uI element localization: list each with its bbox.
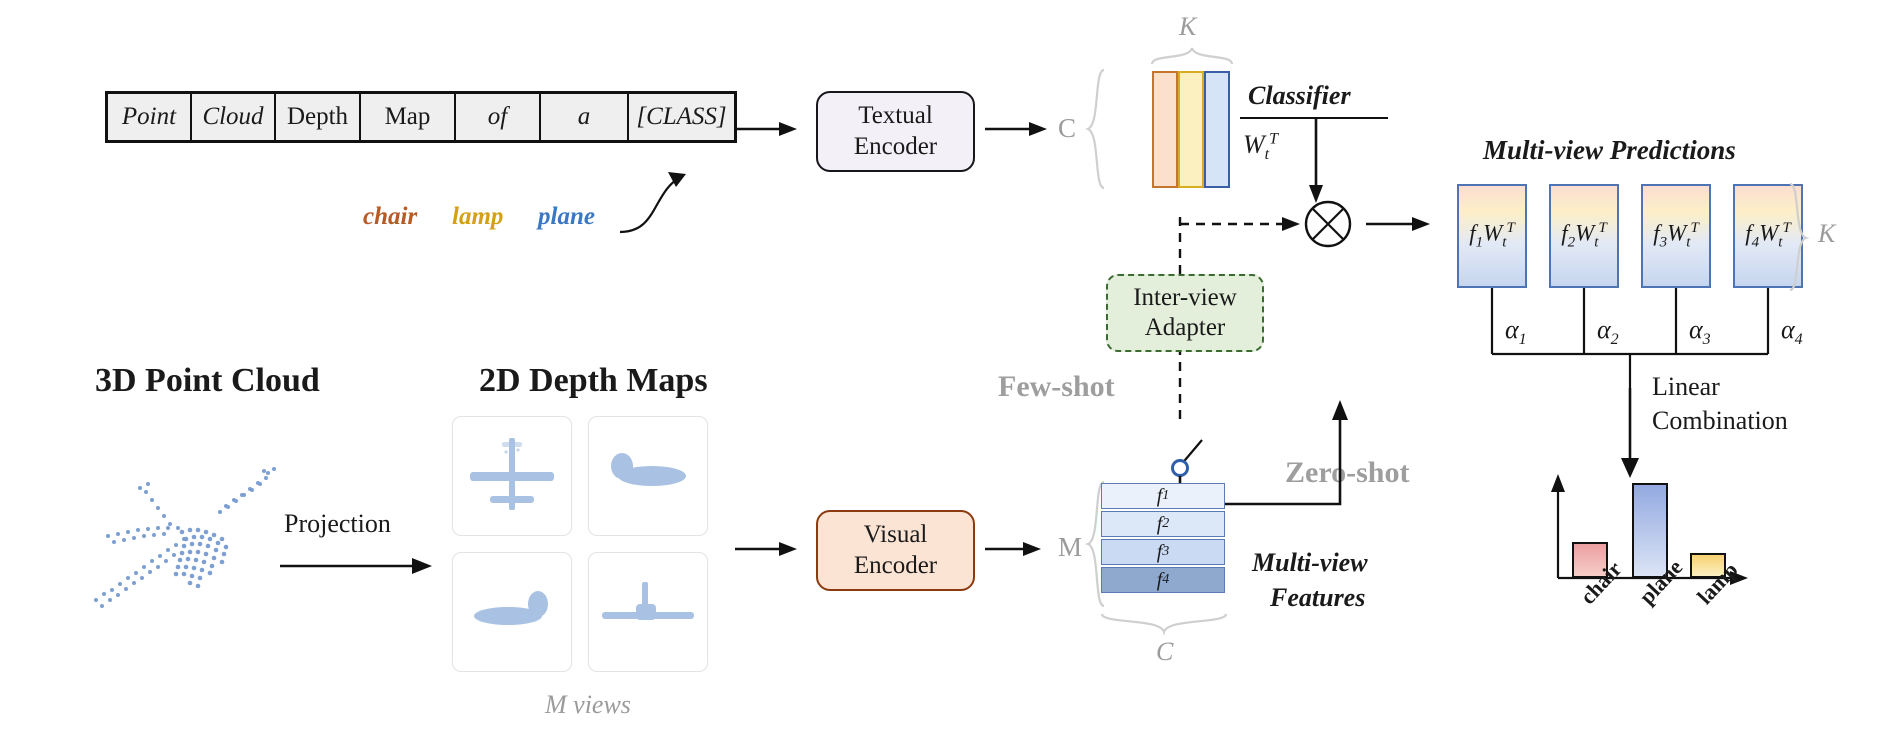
point-cloud-heading: 3D Point Cloud xyxy=(95,362,320,400)
feature-row-1-sub: 1 xyxy=(1162,488,1169,504)
alpha-4: α4 xyxy=(1781,315,1803,349)
alpha-2: α2 xyxy=(1597,315,1619,349)
prompt-cell-a: a xyxy=(541,94,629,140)
predictions-row: f1WtT f2WtT f3WtT f4WtT xyxy=(1457,184,1803,288)
depth-map-front-view-icon xyxy=(592,556,704,668)
classifier-weight-W: W xyxy=(1243,130,1265,159)
prediction-box-2-w: W xyxy=(1575,221,1594,246)
classifier-column-plane xyxy=(1204,71,1230,188)
prediction-box-4-sub: 4 xyxy=(1752,235,1760,251)
classifier-weight-symbol: WtT xyxy=(1243,130,1278,164)
depth-map-tile-3[interactable] xyxy=(452,552,572,672)
prompt-cell-map: Map xyxy=(361,94,456,140)
prediction-box-1-w: W xyxy=(1483,221,1502,246)
arrow-textual-encoder-to-classifier xyxy=(985,118,1055,140)
matrix-multiply-icon xyxy=(1300,196,1360,256)
linear-combination-line2: Combination xyxy=(1652,406,1788,436)
prediction-box-1-wsup: T xyxy=(1506,220,1514,236)
prediction-box-2-wsup: T xyxy=(1598,220,1606,236)
linear-combination-line1: Linear xyxy=(1652,372,1720,402)
depth-map-oblique-view-icon xyxy=(592,420,704,532)
prompt-cell-cloud: Cloud xyxy=(192,94,276,140)
prediction-box-4-w: W xyxy=(1759,221,1778,246)
predictions-brace xyxy=(1788,182,1810,294)
depth-map-grid xyxy=(452,416,706,670)
visual-encoder-line1: Visual xyxy=(864,520,928,551)
features-dim-cols: C xyxy=(1156,637,1173,667)
class-word-plane: plane xyxy=(538,203,595,231)
alpha-3: α3 xyxy=(1689,315,1711,349)
prediction-box-3-wsup: T xyxy=(1690,220,1698,236)
arrow-depthmaps-to-visual-encoder xyxy=(735,538,805,560)
prediction-box-2[interactable]: f2WtT xyxy=(1549,184,1619,288)
arrow-prompt-to-textual-encoder xyxy=(735,118,805,140)
class-word-lamp: lamp xyxy=(452,203,503,231)
prediction-box-1-sub: 1 xyxy=(1476,235,1484,251)
multi-view-features-stack: f1 f2 f3 f4 xyxy=(1101,483,1225,595)
depth-maps-caption: M views xyxy=(545,690,631,720)
features-caption-line2: Features xyxy=(1270,583,1365,613)
prediction-box-1-wsub: t xyxy=(1502,235,1506,251)
depth-maps-heading: 2D Depth Maps xyxy=(479,362,708,400)
depth-map-tile-2[interactable] xyxy=(588,416,708,536)
visual-encoder-line2: Encoder xyxy=(854,551,937,582)
features-col-brace xyxy=(1100,614,1228,636)
features-caption-line1: Multi-view xyxy=(1252,548,1368,578)
feature-row-2: f2 xyxy=(1101,511,1225,537)
feature-row-4-sub: 4 xyxy=(1162,572,1169,588)
feature-row-2-sub: 2 xyxy=(1162,516,1169,532)
inter-view-adapter-line2: Adapter xyxy=(1145,313,1226,344)
feature-row-3-sub: 3 xyxy=(1162,544,1169,560)
feature-row-1: f1 xyxy=(1101,483,1225,509)
arrow-visual-encoder-to-features xyxy=(985,538,1049,560)
few-shot-dashed-arrow xyxy=(1178,213,1306,237)
classifier-dim-cols: K xyxy=(1179,12,1196,42)
point-cloud-visual xyxy=(78,440,298,640)
figure-canvas: Point Cloud Depth Map of a [CLASS] chair… xyxy=(0,0,1882,746)
classifier-column-chair xyxy=(1152,71,1178,188)
arrow-projection xyxy=(280,555,440,577)
prompt-cell-of: of xyxy=(456,94,541,140)
depth-map-top-view-icon xyxy=(456,420,568,532)
prediction-box-3-wsub: t xyxy=(1686,235,1690,251)
prediction-box-2-wsub: t xyxy=(1594,235,1598,251)
classifier-matrix xyxy=(1152,71,1230,188)
predictions-dim: K xyxy=(1818,219,1835,249)
prediction-box-1[interactable]: f1WtT xyxy=(1457,184,1527,288)
prompt-cell-depth: Depth xyxy=(276,94,361,140)
prediction-box-2-sub: 2 xyxy=(1568,235,1576,251)
depth-map-tile-1[interactable] xyxy=(452,416,572,536)
textual-encoder-line2: Encoder xyxy=(854,132,937,163)
classifier-row-brace xyxy=(1086,68,1108,192)
features-dim-rows: M xyxy=(1058,532,1082,563)
classifier-dim-rows: C xyxy=(1058,113,1076,144)
prompt-cell-point: Point xyxy=(108,94,192,140)
feature-row-3: f3 xyxy=(1101,539,1225,565)
depth-map-side-view-icon xyxy=(456,556,568,668)
textual-encoder-line1: Textual xyxy=(858,101,933,132)
feature-row-4: f4 xyxy=(1101,567,1225,593)
class-insert-arrow xyxy=(600,150,730,240)
few-shot-dashed-riser xyxy=(1170,214,1192,276)
visual-encoder-box[interactable]: Visual Encoder xyxy=(816,510,975,591)
inter-view-adapter-box[interactable]: Inter-view Adapter xyxy=(1106,274,1264,352)
classifier-weight-sub: t xyxy=(1265,146,1269,163)
prediction-box-3-w: W xyxy=(1667,221,1686,246)
arrow-operator-to-predictions xyxy=(1366,213,1438,235)
classifier-label: Classifier xyxy=(1248,81,1351,111)
textual-encoder-box[interactable]: Textual Encoder xyxy=(816,91,975,172)
alpha-1: α1 xyxy=(1505,315,1527,349)
final-prediction-chart xyxy=(1540,470,1770,580)
classifier-weight-sup: T xyxy=(1269,130,1278,147)
few-shot-label: Few-shot xyxy=(998,370,1115,404)
prompt-template: Point Cloud Depth Map of a [CLASS] xyxy=(105,91,737,143)
inter-view-adapter-line1: Inter-view xyxy=(1133,283,1237,314)
depth-map-tile-4[interactable] xyxy=(588,552,708,672)
prompt-cell-class: [CLASS] xyxy=(629,94,734,140)
classifier-column-lamp xyxy=(1178,71,1204,188)
prediction-box-4-wsub: t xyxy=(1778,235,1782,251)
predictions-title: Multi-view Predictions xyxy=(1483,135,1736,166)
prediction-box-3-sub: 3 xyxy=(1660,235,1668,251)
prediction-box-3[interactable]: f3WtT xyxy=(1641,184,1711,288)
class-word-chair: chair xyxy=(363,203,417,231)
classifier-col-brace xyxy=(1150,44,1234,66)
projection-label: Projection xyxy=(284,509,391,539)
